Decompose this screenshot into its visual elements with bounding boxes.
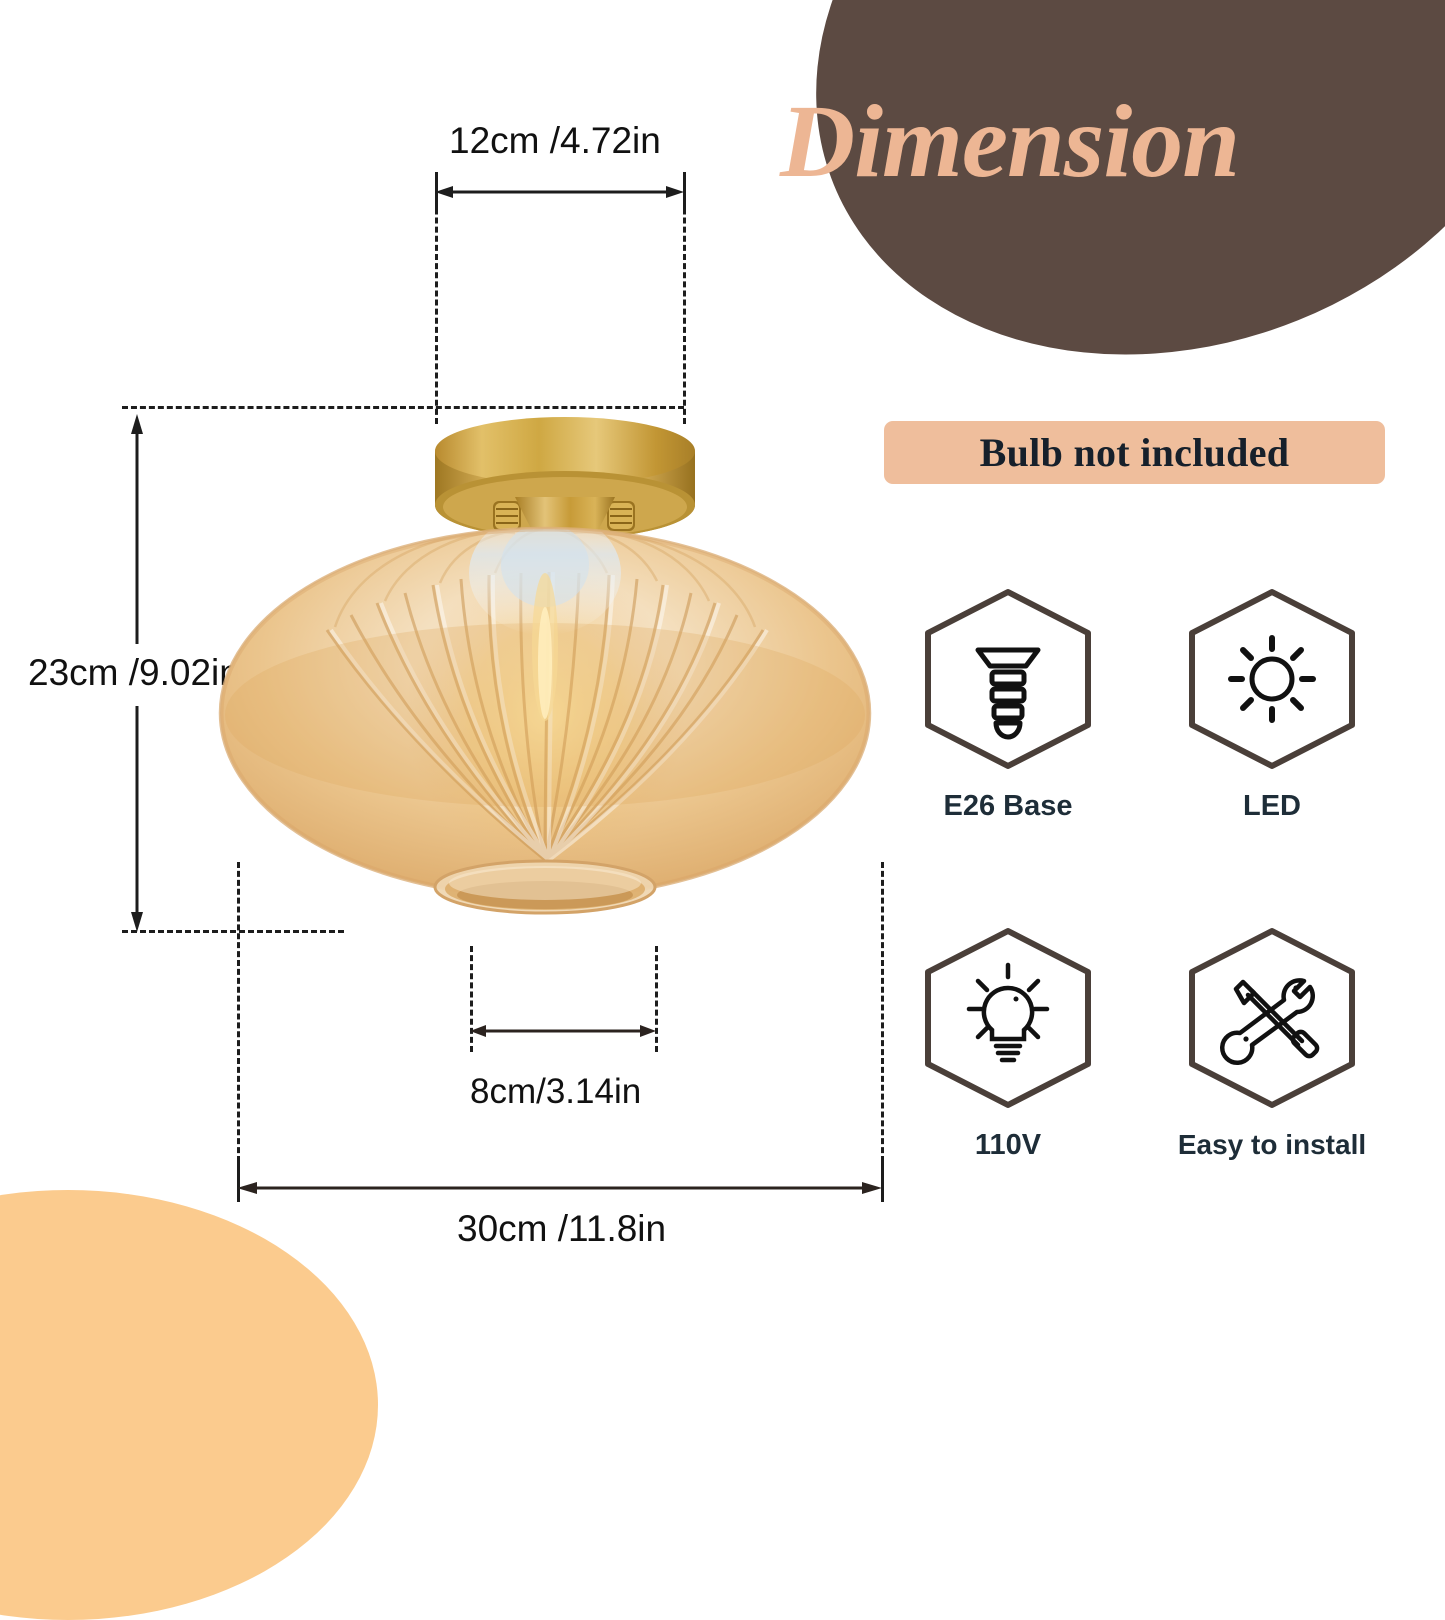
brown-blob-decoration [721,0,1445,463]
dimension-arrow-12cm [435,181,684,203]
feature-easy-to-install: Easy to install [1172,925,1372,1161]
dimension-arrow-30cm [237,1177,882,1199]
wrench-screwdriver-icon [1184,925,1360,1111]
infographic-canvas: Dimension Bulb not included [0,0,1445,1392]
dimension-arrow-23cm-lower [126,706,148,932]
dimension-arrow-8cm [470,1020,656,1042]
page-title: Dimension [780,90,1239,194]
dimension-label-12cm: 12cm /4.72in [449,120,661,162]
feature-e26-base: E26 Base [908,586,1108,823]
sun-brightness-icon [1184,586,1360,772]
feature-label-110v: 110V [975,1129,1041,1162]
leader-line-top [122,406,684,409]
badge-label: Bulb not included [980,429,1290,476]
dimension-arrow-23cm-upper [126,414,148,644]
screw-base-icon [920,586,1096,772]
dimension-label-23cm: 23cm /9.02in [28,652,240,694]
dimension-label-8cm: 8cm/3.14in [470,1072,641,1112]
lightbulb-rays-icon [920,925,1096,1111]
feature-label-e26: E26 Base [944,790,1073,823]
feature-label-led: LED [1243,790,1301,823]
feature-label-easy: Easy to install [1178,1129,1366,1161]
orange-blob-decoration [0,1190,378,1620]
feature-led: LED [1172,586,1372,823]
product-image-ceiling-light [215,415,905,955]
dimension-label-30cm: 30cm /11.8in [457,1208,666,1250]
feature-110v: 110V [908,925,1108,1162]
bulb-not-included-badge: Bulb not included [884,421,1385,484]
